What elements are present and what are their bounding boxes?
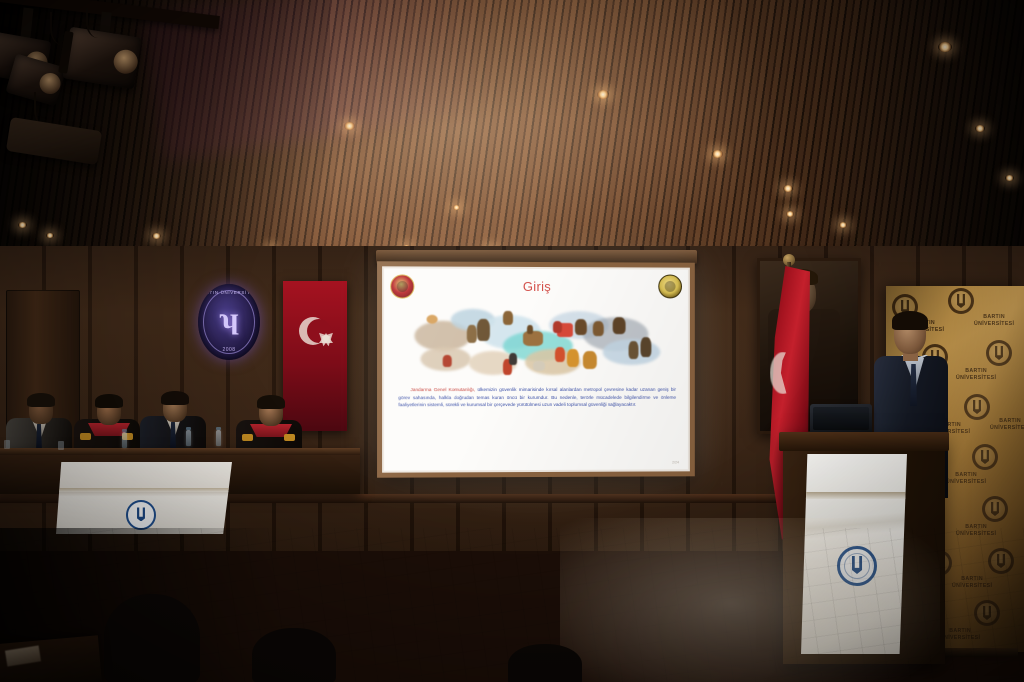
conference-hall-photo: BARTIN ÜNİVERSİTESİ ʮ 2008 Giriş — [0, 0, 1024, 682]
bottle-cap — [122, 429, 127, 432]
ceiling-downlight — [712, 150, 723, 158]
university-wall-emblem: BARTIN ÜNİVERSİTESİ ʮ 2008 — [198, 284, 260, 360]
ceiling-downlight — [975, 125, 985, 132]
bottle-cap — [186, 427, 191, 430]
panelist-hair — [27, 393, 55, 407]
ceiling-downlight — [938, 42, 952, 52]
drinking-glass[interactable] — [4, 440, 10, 449]
skirt-trim — [56, 488, 232, 492]
ceiling-downlight — [46, 233, 54, 238]
emblem-top-text: BARTIN ÜNİVERSİTESİ — [198, 290, 260, 295]
water-bottle[interactable] — [186, 430, 191, 446]
floor-light-pool — [560, 518, 940, 682]
ceiling-downlight — [597, 90, 609, 99]
uniform-shoulder-patch — [80, 433, 91, 440]
ceiling-downlight — [786, 211, 794, 217]
screen-frame — [377, 261, 695, 477]
ceiling-downlight — [783, 185, 793, 192]
projector-unit — [6, 117, 102, 165]
laptop-screen — [813, 407, 869, 430]
panelist-hair — [257, 395, 285, 409]
podium-lectern-top — [779, 432, 949, 451]
rig-pole — [20, 8, 33, 39]
audience-head-1 — [104, 594, 200, 682]
panel-table-top — [0, 448, 360, 455]
ceiling-downlight — [1005, 175, 1014, 181]
ceiling-downlight — [453, 205, 460, 210]
emblem-monogram: ʮ — [219, 304, 239, 334]
stage-light-rig — [0, 0, 205, 179]
panelist-hair — [95, 394, 123, 408]
drinking-glass[interactable] — [58, 441, 64, 450]
rig-cable — [86, 8, 110, 38]
audience-head-3 — [508, 644, 582, 682]
water-bottle[interactable] — [216, 430, 221, 446]
audience-head-2 — [252, 628, 336, 682]
presenter-hair — [892, 311, 928, 330]
emblem-year: 2008 — [198, 347, 260, 353]
uniform-shoulder-patch — [242, 434, 253, 441]
rig-cable — [50, 12, 78, 46]
uniform-shoulder-patch — [284, 434, 295, 441]
bottle-cap — [216, 427, 221, 430]
bartin-university-logo-icon — [126, 500, 156, 530]
star-icon — [319, 333, 333, 343]
ceiling-downlight — [18, 222, 27, 228]
laptop[interactable] — [810, 404, 872, 434]
projection-screen: Giriş — [377, 261, 695, 477]
ceiling-downlight — [839, 222, 847, 228]
water-bottle[interactable] — [122, 432, 127, 448]
ceiling-shadow-right — [724, 0, 1024, 268]
podium-trim — [801, 492, 907, 499]
ceiling-downlight — [152, 233, 161, 239]
panelist-hair — [161, 391, 189, 405]
panel-table-skirt — [56, 462, 232, 534]
ceiling-downlight — [344, 122, 355, 130]
